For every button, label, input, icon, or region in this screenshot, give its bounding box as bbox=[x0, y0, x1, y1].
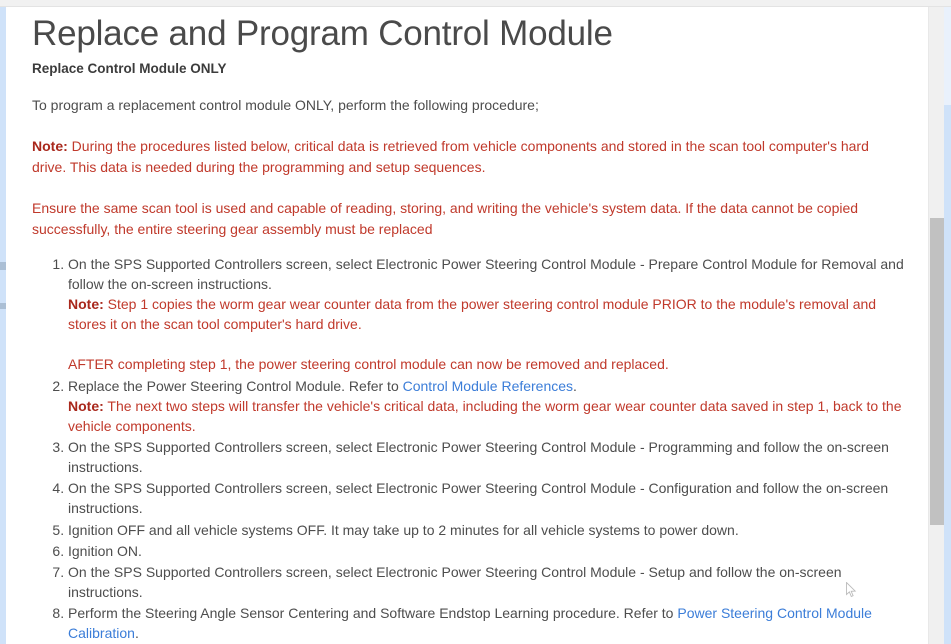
step-6-body: Ignition ON. bbox=[68, 541, 906, 561]
list-item: Ignition OFF and all vehicle systems OFF… bbox=[68, 520, 906, 541]
step-2-note: Note: The next two steps will transfer t… bbox=[68, 396, 906, 436]
step-1-body: On the SPS Supported Controllers screen,… bbox=[68, 254, 906, 294]
step-2-text-before-link: Replace the Power Steering Control Modul… bbox=[68, 378, 403, 394]
intro-paragraph: To program a replacement control module … bbox=[32, 95, 906, 115]
vertical-scrollbar[interactable] bbox=[928, 7, 944, 644]
step-3-body: On the SPS Supported Controllers screen,… bbox=[68, 437, 906, 477]
step-8-text-after-link: . bbox=[135, 625, 139, 641]
note-label: Note: bbox=[32, 138, 68, 154]
step-5-body: Ignition OFF and all vehicle systems OFF… bbox=[68, 520, 906, 540]
step-8-text-before-link: Perform the Steering Angle Sensor Center… bbox=[68, 605, 677, 621]
step-4-body: On the SPS Supported Controllers screen,… bbox=[68, 478, 906, 518]
step-1-extra-note: AFTER completing step 1, the power steer… bbox=[68, 354, 906, 374]
note-body: During the procedures listed below, crit… bbox=[32, 138, 869, 175]
note-body: Step 1 copies the worm gear wear counter… bbox=[68, 296, 876, 332]
list-item: Perform the Steering Angle Sensor Center… bbox=[68, 603, 906, 644]
step-8-body: Perform the Steering Angle Sensor Center… bbox=[68, 603, 906, 643]
section-subtitle: Replace Control Module ONLY bbox=[32, 60, 906, 78]
step-2-text-after-link: . bbox=[573, 378, 577, 394]
list-item: On the SPS Supported Controllers screen,… bbox=[68, 562, 906, 603]
note-body: The next two steps will transfer the veh… bbox=[68, 398, 902, 434]
list-item: On the SPS Supported Controllers screen,… bbox=[68, 478, 906, 519]
link-control-module-references[interactable]: Control Module References bbox=[403, 378, 573, 394]
list-item: On the SPS Supported Controllers screen,… bbox=[68, 437, 906, 478]
list-item: On the SPS Supported Controllers screen,… bbox=[68, 254, 906, 376]
step-7-body: On the SPS Supported Controllers screen,… bbox=[68, 562, 906, 602]
vertical-scrollbar-thumb[interactable] bbox=[930, 218, 944, 525]
note-label: Note: bbox=[68, 296, 104, 312]
document-content-area: Replace and Program Control Module Repla… bbox=[6, 7, 922, 644]
list-item: Ignition ON. bbox=[68, 541, 906, 562]
document-viewport: Replace and Program Control Module Repla… bbox=[0, 0, 951, 644]
app-chrome-strip bbox=[0, 0, 951, 7]
right-page-gutter-top bbox=[944, 7, 951, 105]
list-item: Replace the Power Steering Control Modul… bbox=[68, 376, 906, 437]
procedure-step-list: On the SPS Supported Controllers screen,… bbox=[32, 254, 906, 644]
warning-paragraph: Ensure the same scan tool is used and ca… bbox=[32, 198, 906, 240]
note-paragraph: Note: During the procedures listed below… bbox=[32, 136, 906, 178]
note-label: Note: bbox=[68, 398, 104, 414]
step-1-note: Note: Step 1 copies the worm gear wear c… bbox=[68, 294, 906, 334]
step-2-body: Replace the Power Steering Control Modul… bbox=[68, 376, 906, 396]
page-title: Replace and Program Control Module bbox=[32, 14, 906, 54]
